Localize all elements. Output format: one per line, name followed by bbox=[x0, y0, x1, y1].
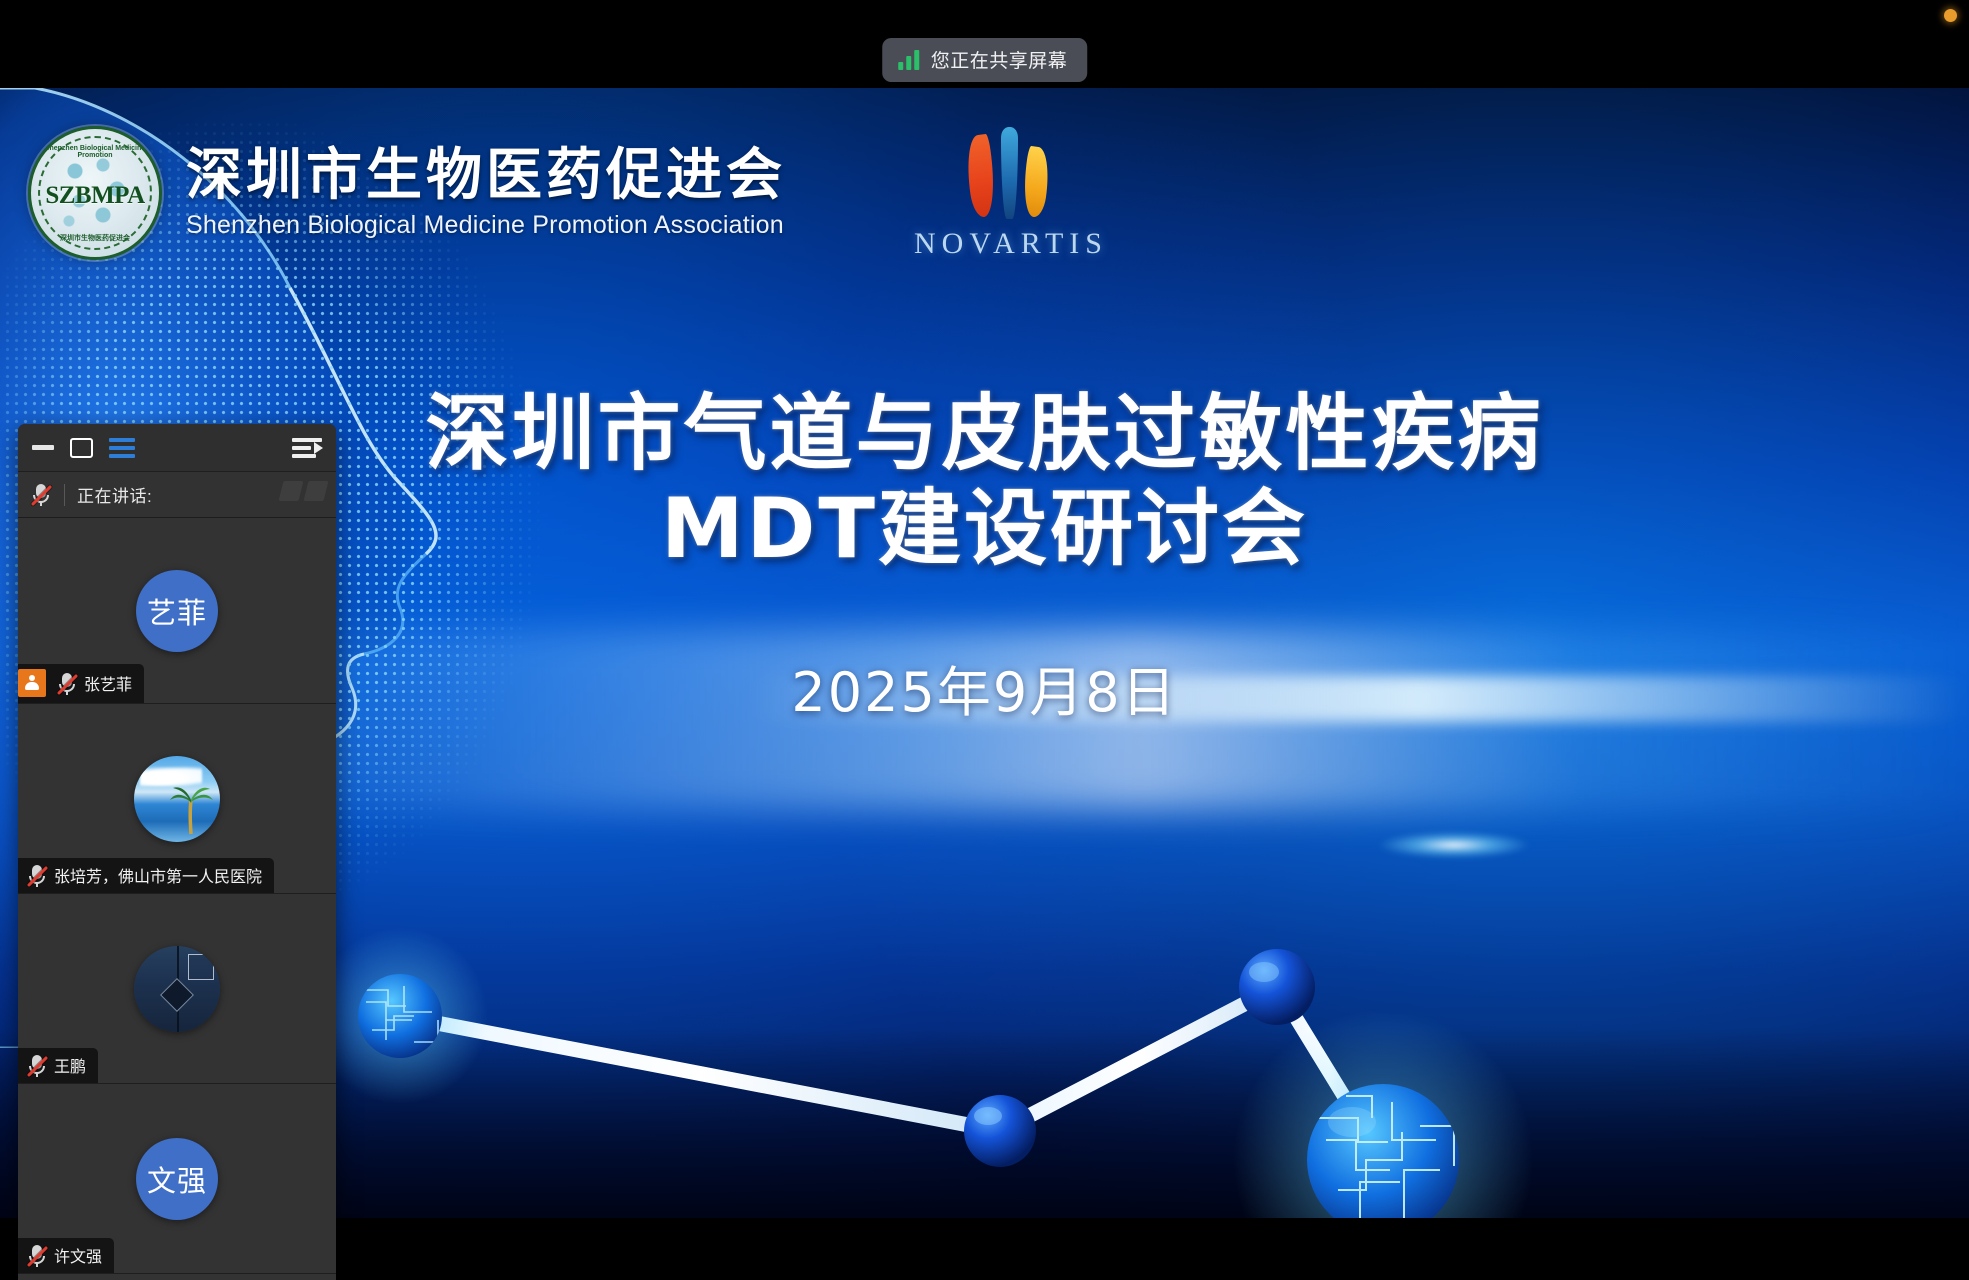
active-speaker-bar: 正在讲话: bbox=[18, 472, 336, 518]
novartis-flame-icon bbox=[946, 125, 1076, 221]
minimize-icon[interactable] bbox=[32, 445, 54, 450]
participant-tile[interactable]: 文强 许文强 bbox=[18, 1084, 336, 1274]
list-view-icon[interactable] bbox=[109, 438, 135, 458]
participant-name-tag: 张艺菲 bbox=[18, 664, 144, 703]
association-name-en: Shenzhen Biological Medicine Promotion A… bbox=[186, 211, 786, 240]
participant-tile[interactable]: 张培芳，佛山市第一人民医院 bbox=[18, 704, 336, 894]
share-banner-label: 您正在共享屏幕 bbox=[931, 46, 1068, 73]
participants-panel[interactable]: 正在讲话: 艺菲 张艺菲 bbox=[18, 424, 336, 1280]
screen-share-banner[interactable]: 您正在共享屏幕 bbox=[882, 38, 1088, 82]
avatar bbox=[134, 946, 220, 1032]
door-photo-icon bbox=[134, 946, 220, 1032]
participant-name-tag: 张培芳，佛山市第一人民医院 bbox=[18, 858, 274, 893]
speaker-waveform-icon bbox=[281, 481, 326, 501]
participant-tile[interactable]: 艺菲 张艺菲 bbox=[18, 518, 336, 704]
association-logo: Shenzhen Biological Medicine Promotion S… bbox=[28, 126, 162, 260]
mic-muted-icon bbox=[26, 1054, 46, 1076]
association-title-block: 深圳市生物医药促进会 Shenzhen Biological Medicine … bbox=[186, 146, 786, 239]
screen-root: 您正在共享屏幕 bbox=[0, 0, 1969, 1280]
participant-name: 张培芳，佛山市第一人民医院 bbox=[54, 863, 262, 887]
mic-muted-icon bbox=[56, 672, 76, 694]
signal-bars-icon bbox=[898, 50, 919, 70]
slide-header: Shenzhen Biological Medicine Promotion S… bbox=[0, 88, 1969, 298]
sponsor-logo: NOVARTIS bbox=[906, 125, 1116, 261]
beach-photo-icon bbox=[134, 756, 220, 842]
participant-tile-list[interactable]: 艺菲 张艺菲 bbox=[18, 518, 336, 1280]
participant-name: 许文强 bbox=[54, 1243, 102, 1267]
association-name-cn: 深圳市生物医药促进会 bbox=[186, 146, 786, 206]
maximize-icon[interactable] bbox=[70, 438, 93, 458]
host-badge-icon bbox=[18, 669, 46, 697]
sponsor-wordmark: NOVARTIS bbox=[906, 227, 1116, 261]
recording-dot-icon bbox=[1944, 9, 1957, 22]
palm-tree-icon bbox=[168, 778, 214, 836]
logo-arc-bottom: 深圳市生物医药促进会 bbox=[31, 233, 159, 243]
participant-name-tag: 许文强 bbox=[18, 1238, 114, 1273]
participant-name-tag: 王鹏 bbox=[18, 1048, 98, 1083]
panel-toolbar bbox=[18, 424, 336, 472]
divider bbox=[64, 484, 65, 506]
active-speaker-label: 正在讲话: bbox=[77, 482, 152, 507]
participant-tile[interactable]: 王鹏 bbox=[18, 894, 336, 1084]
logo-abbrev: SZBMPA bbox=[45, 182, 144, 210]
avatar: 文强 bbox=[136, 1138, 218, 1220]
mic-muted-icon bbox=[26, 864, 46, 886]
participant-name: 王鹏 bbox=[54, 1053, 86, 1077]
participant-name: 张艺菲 bbox=[84, 671, 132, 695]
avatar: 艺菲 bbox=[136, 570, 218, 652]
logo-arc-top: Shenzhen Biological Medicine Promotion bbox=[31, 145, 159, 159]
mic-muted-icon bbox=[30, 483, 52, 507]
participant-tile[interactable] bbox=[18, 1274, 336, 1280]
collapse-panel-icon[interactable] bbox=[292, 437, 322, 459]
mic-muted-icon bbox=[26, 1244, 46, 1266]
avatar bbox=[134, 756, 220, 842]
